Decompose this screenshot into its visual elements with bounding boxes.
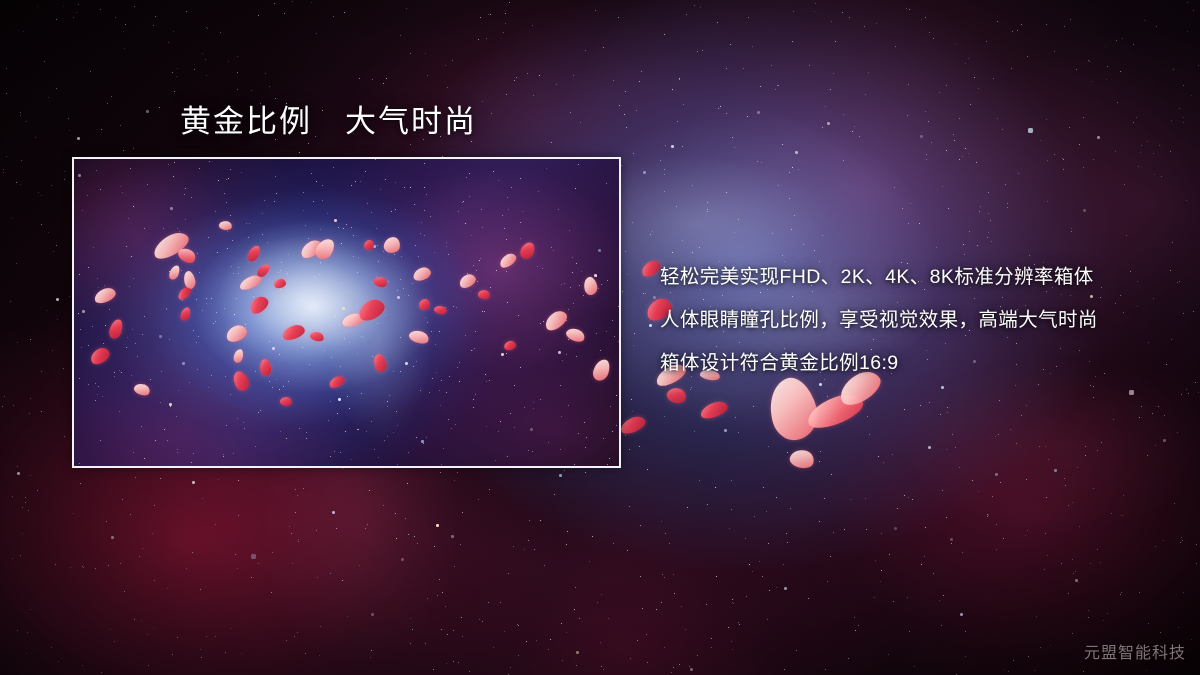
page-title: 黄金比例 大气时尚 <box>180 103 477 142</box>
photo-core-glow <box>74 159 619 466</box>
watermark-brand: 元盟智能科技 <box>1084 639 1186 663</box>
description-text-block: 轻松完美实现FHD、2K、4K、8K标准分辨率箱体 人体眼睛瞳孔比例，享受视觉效… <box>660 256 1160 385</box>
petal <box>419 299 430 310</box>
description-line-3: 箱体设计符合黄金比例16:9 <box>660 342 1160 385</box>
description-line-1: 轻松完美实现FHD、2K、4K、8K标准分辨率箱体 <box>660 256 1160 299</box>
galaxy-petals-photo-frame <box>72 157 621 468</box>
presentation-slide: 黄金比例 大气时尚 轻松完美实现FHD、2K、4K、8K标准分辨率箱体 人体眼睛… <box>0 0 1200 675</box>
petal <box>364 240 374 250</box>
description-line-2: 人体眼睛瞳孔比例，享受视觉效果，高端大气时尚 <box>660 299 1160 342</box>
